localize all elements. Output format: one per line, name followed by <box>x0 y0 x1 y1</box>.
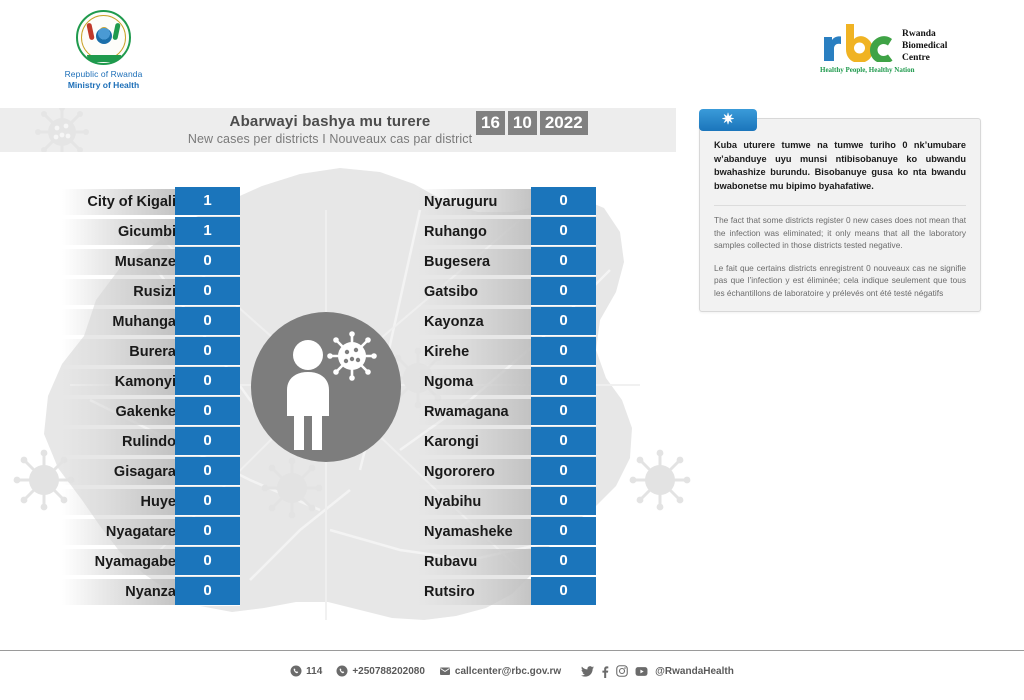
district-case-count: 0 <box>531 247 596 275</box>
district-case-count: 0 <box>531 307 596 335</box>
district-case-count: 0 <box>175 577 240 605</box>
district-name: Rubavu <box>424 549 534 575</box>
district-case-count: 0 <box>175 457 240 485</box>
rbc-name-line1: Rwanda <box>902 28 947 40</box>
district-case-count: 0 <box>175 427 240 455</box>
footer-phone-short-text: 114 <box>306 666 322 677</box>
page-title: Abarwayi bashya mu turere <box>130 113 530 130</box>
district-name: Kirehe <box>424 339 534 365</box>
district-column-left: City of Kigali1Gicumbi1Musanze0Rusizi0Mu… <box>62 187 240 607</box>
rbc-wordmark-icon <box>820 22 895 62</box>
district-row: Ngoma0 <box>418 367 596 397</box>
district-name: Musanze <box>62 249 176 275</box>
district-row: Gicumbi1 <box>62 217 240 247</box>
district-case-count: 0 <box>175 307 240 335</box>
district-case-count: 0 <box>175 397 240 425</box>
district-row: Nyabihu0 <box>418 487 596 517</box>
report-date: 16 10 2022 <box>476 111 588 135</box>
district-name: Nyaruguru <box>424 189 534 215</box>
district-case-count: 1 <box>175 187 240 215</box>
district-row: Bugesera0 <box>418 247 596 277</box>
district-name: Kamonyi <box>62 369 176 395</box>
district-case-count: 0 <box>531 577 596 605</box>
district-row: Huye0 <box>62 487 240 517</box>
date-year: 2022 <box>540 111 588 135</box>
instagram-icon[interactable] <box>616 665 628 677</box>
district-name: Karongi <box>424 429 534 455</box>
district-row: Muhanga0 <box>62 307 240 337</box>
district-name: City of Kigali <box>62 189 176 215</box>
district-row: City of Kigali1 <box>62 187 240 217</box>
virus-icon <box>32 108 92 152</box>
district-name: Gatsibo <box>424 279 534 305</box>
district-row: Rubavu0 <box>418 547 596 577</box>
district-row: Nyanza0 <box>62 577 240 607</box>
footer-divider <box>0 650 1024 651</box>
district-case-count: 0 <box>531 487 596 515</box>
district-name: Rwamagana <box>424 399 534 425</box>
phone-icon <box>336 665 348 677</box>
district-name: Muhanga <box>62 309 176 335</box>
district-name: Rutsiro <box>424 579 534 605</box>
email-icon <box>439 665 451 677</box>
district-name: Ngoma <box>424 369 534 395</box>
district-row: Rwamagana0 <box>418 397 596 427</box>
info-divider <box>714 205 966 206</box>
rbc-name-line3: Centre <box>902 52 947 64</box>
district-row: Karongi0 <box>418 427 596 457</box>
district-row: Rusizi0 <box>62 277 240 307</box>
district-row: Ruhango0 <box>418 217 596 247</box>
info-box-tab: ✷ <box>699 109 757 131</box>
district-case-count: 0 <box>175 487 240 515</box>
asterisk-icon: ✷ <box>722 111 735 128</box>
district-name: Nyagatare <box>62 519 176 545</box>
footer-email[interactable]: callcenter@rbc.gov.rw <box>439 665 561 677</box>
district-case-count: 0 <box>531 367 596 395</box>
district-name: Nyabihu <box>424 489 534 515</box>
page-subtitle: New cases per districts I Nouveaux cas p… <box>130 132 530 146</box>
district-row: Nyamagabe0 <box>62 547 240 577</box>
district-row: Gakenke0 <box>62 397 240 427</box>
district-name: Ngororero <box>424 459 534 485</box>
district-case-count: 0 <box>531 457 596 485</box>
rbc-logo: Rwanda Biomedical Centre Healthy People,… <box>820 22 1000 84</box>
youtube-icon[interactable] <box>635 666 648 677</box>
district-row: Kirehe0 <box>418 337 596 367</box>
footer-phone-short[interactable]: 114 <box>290 665 322 677</box>
rbc-tagline: Healthy People, Healthy Nation <box>820 66 915 74</box>
district-case-count: 0 <box>531 337 596 365</box>
district-case-count: 0 <box>531 517 596 545</box>
district-name: Kayonza <box>424 309 534 335</box>
district-case-count: 0 <box>175 277 240 305</box>
district-case-count: 0 <box>175 547 240 575</box>
district-case-count: 0 <box>531 277 596 305</box>
district-case-count: 0 <box>531 397 596 425</box>
info-text-kinyarwanda: Kuba uturere tumwe na tumwe turiho 0 nk’… <box>714 139 966 193</box>
district-name: Bugesera <box>424 249 534 275</box>
district-name: Huye <box>62 489 176 515</box>
footer-phone-full[interactable]: +250788202080 <box>336 665 425 677</box>
district-name: Burera <box>62 339 176 365</box>
district-row: Nyagatare0 <box>62 517 240 547</box>
person-icon <box>287 340 329 450</box>
footer-email-text: callcenter@rbc.gov.rw <box>455 666 561 677</box>
district-name: Nyamagabe <box>62 549 176 575</box>
info-text-english: The fact that some districts register 0 … <box>714 214 966 252</box>
district-row: Rulindo0 <box>62 427 240 457</box>
facebook-icon[interactable] <box>601 665 609 678</box>
footer-phone-full-text: +250788202080 <box>352 666 425 677</box>
ministry-of-health-logo: Republic of Rwanda Ministry of Health <box>56 10 151 90</box>
rbc-name-line2: Biomedical <box>902 40 947 52</box>
footer: 114 +250788202080 callcenter@rbc.gov.rw <box>0 658 1024 684</box>
footer-social: @RwandaHealth <box>581 665 734 678</box>
district-case-count: 1 <box>175 217 240 245</box>
district-row: Musanze0 <box>62 247 240 277</box>
district-row: Burera0 <box>62 337 240 367</box>
info-box: Kuba uturere tumwe na tumwe turiho 0 nk’… <box>699 118 981 312</box>
district-row: Rutsiro0 <box>418 577 596 607</box>
brand-header: Republic of Rwanda Ministry of Health Rw… <box>0 0 1024 105</box>
district-name: Nyamasheke <box>424 519 534 545</box>
district-case-count: 0 <box>175 247 240 275</box>
district-row: Ngororero0 <box>418 457 596 487</box>
district-name: Rusizi <box>62 279 176 305</box>
district-row: Nyaruguru0 <box>418 187 596 217</box>
district-name: Rulindo <box>62 429 176 455</box>
district-row: Kamonyi0 <box>62 367 240 397</box>
district-case-count: 0 <box>175 517 240 545</box>
rwanda-coat-of-arms-icon <box>76 10 131 65</box>
date-month: 10 <box>508 111 537 135</box>
phone-icon <box>290 665 302 677</box>
district-name: Gakenke <box>62 399 176 425</box>
moh-ministry-label: Ministry of Health <box>56 80 151 90</box>
district-name: Gicumbi <box>62 219 176 245</box>
district-case-count: 0 <box>531 427 596 455</box>
district-row: Nyamasheke0 <box>418 517 596 547</box>
twitter-icon[interactable] <box>581 666 594 677</box>
footer-social-handle: @RwandaHealth <box>655 666 734 677</box>
patient-virus-badge <box>251 312 401 462</box>
district-name: Ruhango <box>424 219 534 245</box>
district-row: Gisagara0 <box>62 457 240 487</box>
district-case-count: 0 <box>531 547 596 575</box>
district-name: Gisagara <box>62 459 176 485</box>
moh-country-label: Republic of Rwanda <box>56 69 151 79</box>
date-day: 16 <box>476 111 505 135</box>
district-column-right: Nyaruguru0Ruhango0Bugesera0Gatsibo0Kayon… <box>418 187 596 607</box>
district-row: Gatsibo0 <box>418 277 596 307</box>
district-case-count: 0 <box>531 187 596 215</box>
info-text-french: Le fait que certains districts enregistr… <box>714 262 966 300</box>
district-case-count: 0 <box>175 367 240 395</box>
virus-icon <box>327 331 377 381</box>
district-case-count: 0 <box>175 337 240 365</box>
district-case-count: 0 <box>531 217 596 245</box>
district-row: Kayonza0 <box>418 307 596 337</box>
district-name: Nyanza <box>62 579 176 605</box>
